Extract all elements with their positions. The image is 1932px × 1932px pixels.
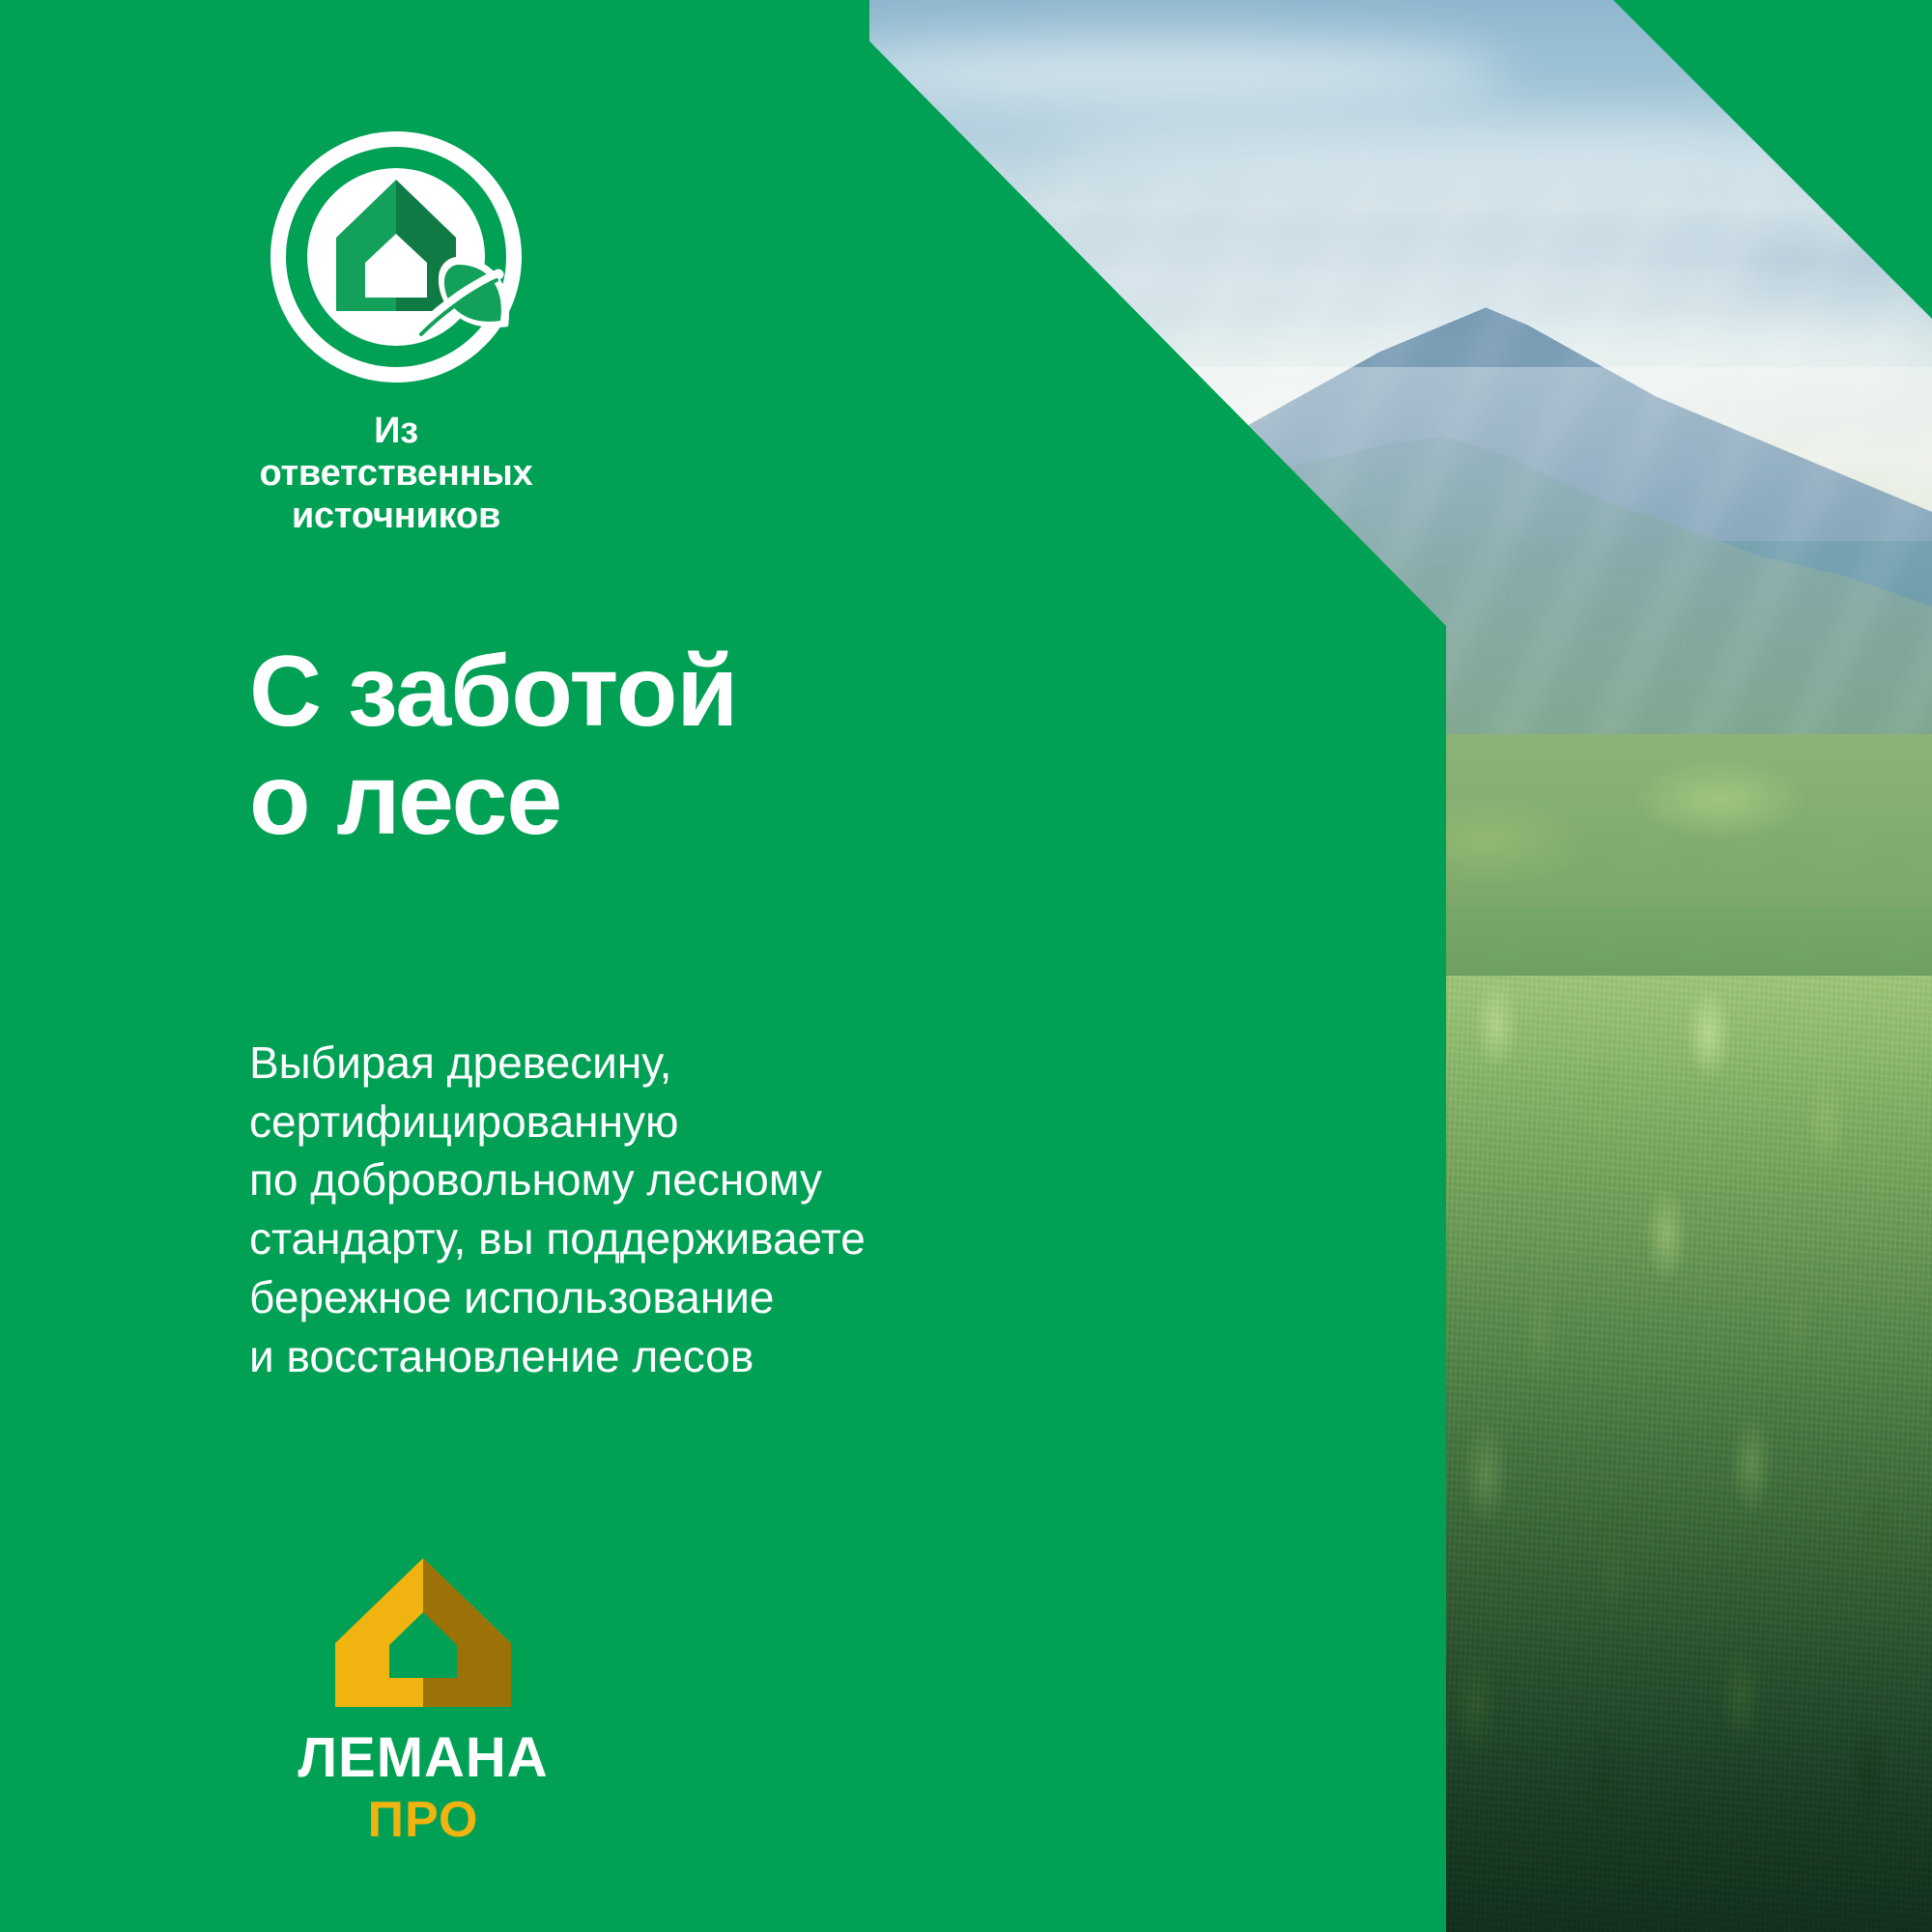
house-leaf-circle-icon <box>267 128 526 386</box>
svg-text:ЛЕМАНА: ЛЕМАНА <box>298 1726 548 1786</box>
content-area: Из ответственных источников С заботой о … <box>0 0 1446 1932</box>
badge-label: Из ответственных источников <box>251 410 541 537</box>
responsible-sources-badge: Из ответственных источников <box>251 128 541 537</box>
brand-name-pro: ПРО <box>337 1792 509 1844</box>
brand-logo: ЛЕМАНА ПРО <box>249 1550 597 1844</box>
brand-name-lemana: ЛЕМАНА <box>257 1726 590 1786</box>
svg-text:ПРО: ПРО <box>368 1792 479 1844</box>
poster: Из ответственных источников С заботой о … <box>0 0 1932 1932</box>
page-title: С заботой о лесе <box>249 638 737 855</box>
house-roof-icon <box>331 1550 515 1715</box>
body-paragraph: Выбирая древесину, сертифицированную по … <box>249 1034 866 1385</box>
